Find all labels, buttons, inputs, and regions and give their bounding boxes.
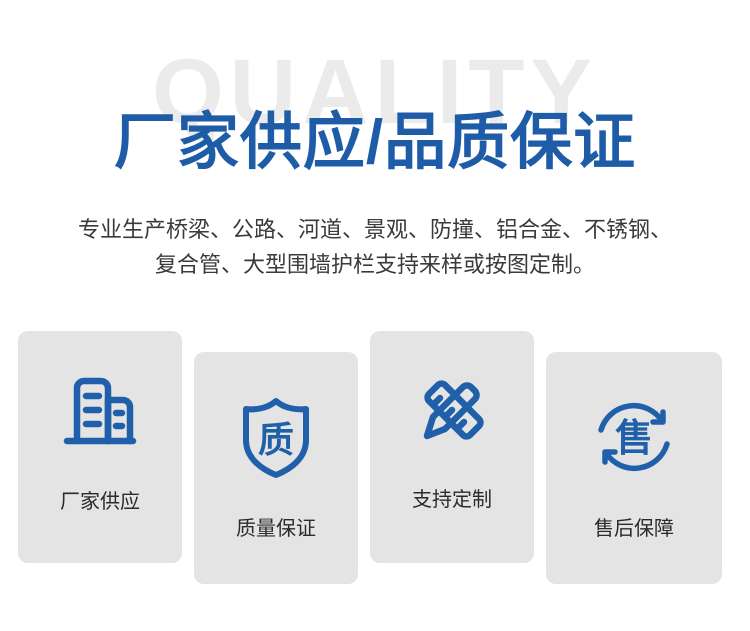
page-subtitle: 专业生产桥梁、公路、河道、景观、防撞、铝合金、不锈钢、 复合管、大型围墙护栏支持… (40, 212, 710, 282)
feature-card-label: 质量保证 (236, 519, 316, 539)
promo-banner: QUALITY 厂家供应/品质保证 专业生产桥梁、公路、河道、景观、防撞、铝合金… (0, 0, 750, 631)
shield-quality-icon: 质 (236, 394, 316, 485)
page-title: 厂家供应/品质保证 (0, 110, 750, 175)
feature-card-label: 支持定制 (412, 490, 492, 510)
feature-card-after-sales[interactable]: 售 售后保障 (546, 352, 722, 584)
feature-card-factory-supply[interactable]: 厂家供应 (18, 331, 182, 563)
hero-section: QUALITY 厂家供应/品质保证 专业生产桥梁、公路、河道、景观、防撞、铝合金… (0, 0, 750, 300)
feature-card-quality-guarantee[interactable]: 质 质量保证 (194, 352, 358, 584)
pencil-ruler-icon (409, 367, 495, 458)
building-icon (57, 369, 143, 460)
feature-card-list: 厂家供应 质 质量保证 (0, 320, 750, 590)
feature-card-custom-support[interactable]: 支持定制 (370, 331, 534, 563)
feature-card-label: 售后保障 (594, 519, 674, 539)
refresh-cycle-icon: 售 (591, 394, 677, 485)
svg-text:质: 质 (258, 420, 294, 461)
subtitle-line-1: 专业生产桥梁、公路、河道、景观、防撞、铝合金、不锈钢、 (40, 212, 710, 247)
svg-text:售: 售 (615, 416, 653, 460)
feature-card-label: 厂家供应 (60, 492, 140, 512)
subtitle-line-2: 复合管、大型围墙护栏支持来样或按图定制。 (40, 247, 710, 282)
